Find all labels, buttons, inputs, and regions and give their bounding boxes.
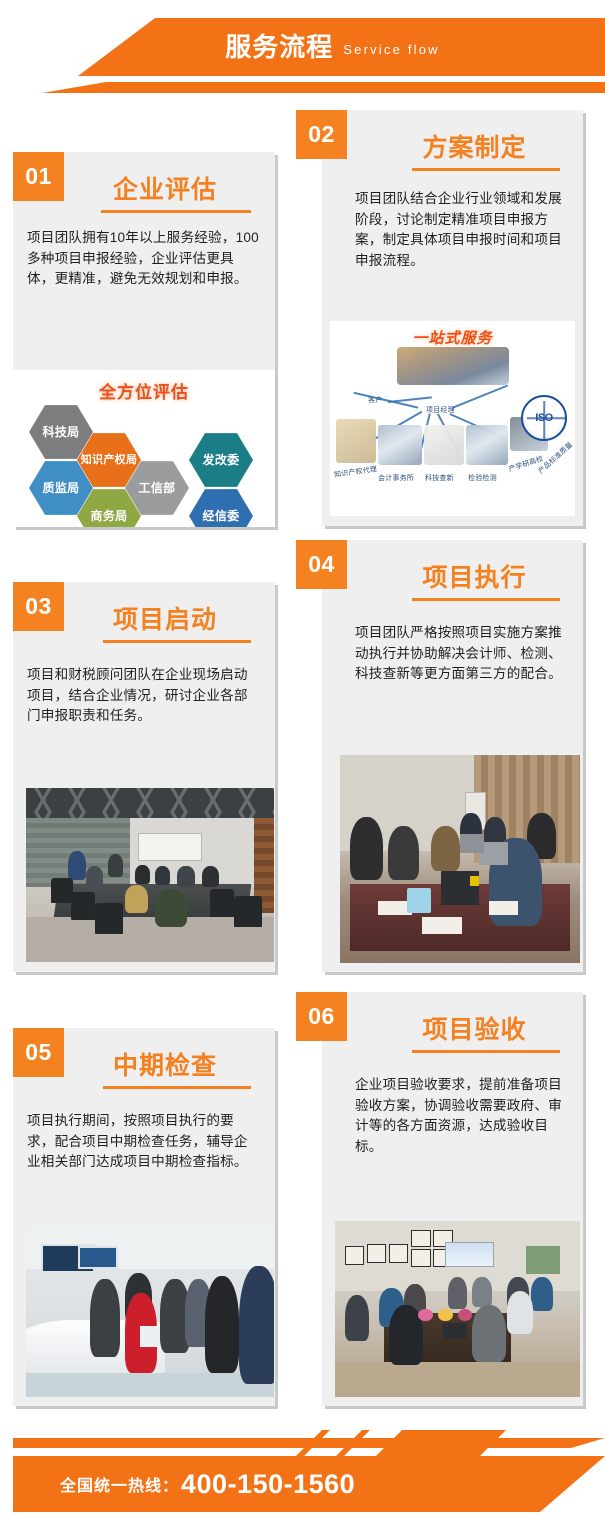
site-visit-scene <box>26 1229 274 1397</box>
hexagon-node-label: 经信委 <box>203 510 240 523</box>
hexagon-cluster: 全方位评估 科技局 知识产权局 质监局 工信部 商务局 发改委 <box>13 370 275 527</box>
hexagon-node-jingxin: 经信委 <box>189 488 253 527</box>
meeting-room-scene <box>26 788 274 962</box>
hexagon-node-label: 质监局 <box>43 482 80 495</box>
oss-label-search: 科技查新 <box>425 473 454 483</box>
project-execution-meeting-photo <box>340 755 580 963</box>
oss-arrow <box>452 385 508 409</box>
oss-title: 一站式服务 <box>330 327 575 348</box>
process-card-01: 01 企业评估 项目团队拥有10年以上服务经验，100多种项目申报经验，企业评估… <box>13 152 275 527</box>
footer-accent-stripe <box>13 1438 605 1448</box>
step-number-badge: 05 <box>13 1028 64 1077</box>
process-card-06: 06 项目验收 企业项目验收要求，提前准备项目验收方案，协调验收需要政府、审计等… <box>322 992 583 1406</box>
one-stop-service-diagram: 一站式服务 客户 项目经理 ISO 知识产权代理 <box>330 321 575 516</box>
project-acceptance-meeting-photo <box>335 1221 580 1397</box>
midterm-inspection-site-photo <box>26 1229 274 1397</box>
card-body-text: 项目团队结合企业行业领域和发展阶段，讨论制定精准项目申报方案，制定具体项目申报时… <box>322 189 583 272</box>
card-title: 方案制定 <box>332 132 573 161</box>
card-body-text: 企业项目验收要求，提前准备项目验收方案，协调验收需要政府、审计等的各方面资源，达… <box>322 1075 583 1158</box>
iso-badge-text: ISO <box>523 397 565 439</box>
brochure <box>140 1326 160 1346</box>
bag-object <box>407 888 431 913</box>
oss-label-accounting: 会计事务所 <box>378 473 414 483</box>
oss-node-accounting <box>378 425 422 465</box>
process-card-03: 03 项目启动 项目和财税顾问团队在企业现场启动项目，结合企业情况，研讨企业各部… <box>13 582 275 972</box>
process-card-04: 04 项目执行 项目团队严格按照项目实施方案推动执行并协助解决会计师、检测、科技… <box>322 540 583 972</box>
card-title: 项目验收 <box>332 1014 573 1043</box>
hexagon-node-label: 发改委 <box>203 454 240 467</box>
oss-node-testing <box>466 425 508 465</box>
hotline-number[interactable]: 400-150-1560 <box>181 1469 355 1500</box>
card-body-text: 项目团队严格按照项目实施方案推动执行并协助解决会计师、检测、科技查新等更方面第三… <box>322 623 583 685</box>
card-header: 项目验收 <box>322 992 583 1053</box>
comprehensive-assessment-diagram: 全方位评估 科技局 知识产权局 质监局 工信部 商务局 发改委 <box>13 370 275 527</box>
card-body-text: 项目执行期间，按照项目执行的要求，配合项目中期检查任务，辅导企业相关部门达成项目… <box>13 1111 275 1173</box>
hexagon-node-label: 商务局 <box>91 510 128 523</box>
one-stop-service-chart: 一站式服务 客户 项目经理 ISO 知识产权代理 <box>330 321 575 516</box>
whiteboard <box>138 833 202 861</box>
card-body-text: 项目团队拥有10年以上服务经验，100多种项目申报经验，企业评估更具体，更精准，… <box>13 228 275 290</box>
page-title: 服务流程 <box>225 34 333 60</box>
card-body-text: 项目和财税顾问团队在企业现场启动项目，结合企业情况，研讨企业各部门申报职责和任务… <box>13 665 275 727</box>
card-header: 项目执行 <box>322 540 583 601</box>
step-number-badge: 01 <box>13 152 64 201</box>
infographic-page: 服务流程 Service flow 01 企业评估 项目团队拥有10年以上服务经… <box>0 0 605 1538</box>
step-number-badge: 03 <box>13 582 64 631</box>
card-body-wrap: 项目执行期间，按照项目执行的要求，配合项目中期检查任务，辅导企业相关部门达成项目… <box>13 1089 275 1187</box>
card-body-wrap: 企业项目验收要求，提前准备项目验收方案，协调验收需要政府、审计等的各方面资源，达… <box>322 1053 583 1172</box>
hexagon-node-label: 科技局 <box>43 426 80 439</box>
header-accent-stripe <box>0 82 605 93</box>
card-body-wrap: 项目团队结合企业行业领域和发展阶段，讨论制定精准项目申报方案，制定具体项目申报时… <box>322 171 583 286</box>
page-subtitle: Service flow <box>343 43 439 56</box>
hexagon-diagram-title: 全方位评估 <box>13 378 275 403</box>
card-body-wrap: 项目和财税顾问团队在企业现场启动项目，结合企业情况，研讨企业各部门申报职责和任务… <box>13 643 275 741</box>
oss-node-ip <box>336 419 376 463</box>
oss-label-testing: 检验检测 <box>468 473 497 483</box>
footer-text-group: 全国统一热线： 400-150-1560 <box>13 1456 605 1512</box>
step-number-badge: 04 <box>296 540 347 589</box>
hexagon-node-label: 工信部 <box>139 482 176 495</box>
step-number-badge: 02 <box>296 110 347 159</box>
hexagon-node-label: 知识产权局 <box>81 454 138 467</box>
small-object <box>470 876 480 886</box>
oss-node-search <box>424 425 464 465</box>
card-body-wrap: 项目团队严格按照项目实施方案推动执行并协助解决会计师、检测、科技查新等更方面第三… <box>322 601 583 699</box>
working-session-scene <box>340 755 580 963</box>
oss-hub-photo <box>397 347 509 385</box>
process-card-02: 02 方案制定 项目团队结合企业行业领域和发展阶段，讨论制定精准项目申报方案，制… <box>322 110 583 526</box>
footer-hotline-bar: 全国统一热线： 400-150-1560 <box>0 1438 605 1538</box>
header-title-group: 服务流程 Service flow <box>0 18 605 76</box>
project-kickoff-meeting-photo <box>26 788 274 962</box>
step-number-badge: 06 <box>296 992 347 1041</box>
hotline-label: 全国统一热线： <box>60 1472 179 1496</box>
header-banner: 服务流程 Service flow <box>0 0 605 110</box>
boardroom-scene <box>335 1221 580 1397</box>
card-title: 项目执行 <box>332 562 573 591</box>
hexagon-node-fagai: 发改委 <box>189 432 253 488</box>
card-header: 方案制定 <box>322 110 583 171</box>
card-body-wrap: 项目团队拥有10年以上服务经验，100多种项目申报经验，企业评估更具体，更精准，… <box>13 213 275 304</box>
process-card-05: 05 中期检查 项目执行期间，按照项目执行的要求，配合项目中期检查任务，辅导企业… <box>13 1028 275 1406</box>
oss-label-ip: 知识产权代理 <box>334 464 378 480</box>
iso-badge-icon: ISO <box>521 395 567 441</box>
